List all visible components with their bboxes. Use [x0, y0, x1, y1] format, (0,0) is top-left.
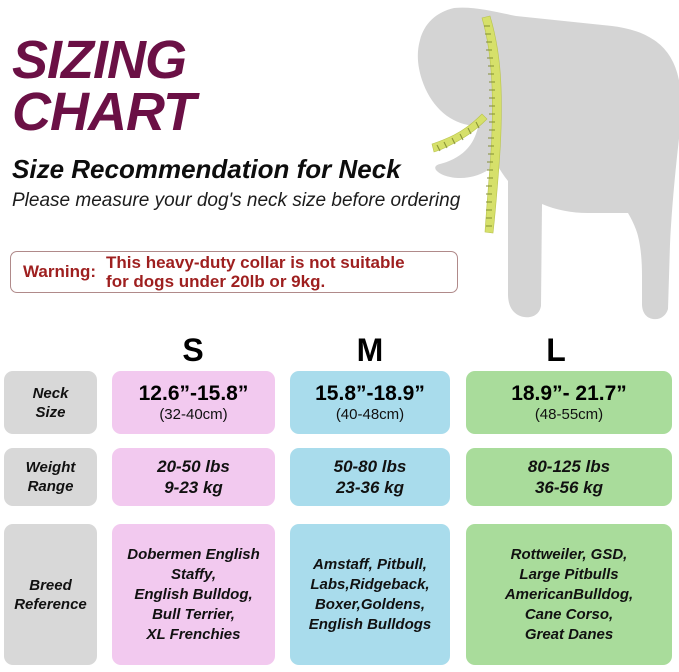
row-label-line-2: Reference — [14, 595, 87, 614]
warning-box: Warning: This heavy-duty collar is not s… — [10, 251, 458, 293]
weight-small-kg: 9-23 kg — [164, 477, 223, 498]
table-row-breed-reference: Breed Reference Dobermen English Staffy,… — [0, 516, 679, 672]
breed-small-line-3: English Bulldog, — [134, 585, 252, 605]
breed-large-line-1: Rottweiler, GSD, — [511, 545, 628, 565]
warning-message: This heavy-duty collar is not suitable f… — [106, 253, 405, 291]
size-header-large: L — [546, 333, 566, 367]
table-row-weight-range: Weight Range 20-50 lbs 9-23 kg 50-80 lbs… — [0, 438, 679, 516]
breed-medium-line-1: Amstaff, Pitbull, — [313, 555, 427, 575]
size-header-row: S M L — [0, 333, 679, 367]
cell-breed-reference-large: Rottweiler, GSD, Large Pitbulls American… — [466, 524, 672, 665]
cell-weight-range-large: 80-125 lbs 36-56 kg — [466, 448, 672, 506]
row-label-breed-reference: Breed Reference — [4, 524, 97, 665]
cell-weight-range-medium: 50-80 lbs 23-36 kg — [290, 448, 450, 506]
table-row-neck-size: Neck Size 12.6”-15.8” (32-40cm) 15.8”-18… — [0, 367, 679, 438]
size-header-medium: M — [357, 333, 384, 367]
warning-message-line-1: This heavy-duty collar is not suitable — [106, 253, 405, 272]
breed-large-line-5: Great Danes — [525, 625, 613, 645]
row-label-line-2: Range — [28, 477, 74, 496]
row-label-line-1: Breed — [29, 576, 72, 595]
neck-size-medium-inches: 15.8”-18.9” — [315, 382, 425, 406]
weight-medium-kg: 23-36 kg — [336, 477, 404, 498]
instruction-text: Please measure your dog's neck size befo… — [12, 189, 482, 213]
breed-small-line-2: Staffy, — [171, 565, 216, 585]
neck-size-large-cm: (48-55cm) — [535, 406, 603, 424]
breed-small-line-1: Dobermen English — [127, 545, 260, 565]
breed-medium-line-4: English Bulldogs — [309, 615, 432, 635]
row-label-line-1: Neck — [33, 384, 69, 403]
neck-size-small-cm: (32-40cm) — [159, 406, 227, 424]
cell-breed-reference-small: Dobermen English Staffy, English Bulldog… — [112, 524, 275, 665]
weight-small-lbs: 20-50 lbs — [157, 456, 230, 477]
subtitle: Size Recommendation for Neck — [12, 154, 482, 184]
cell-neck-size-large: 18.9”- 21.7” (48-55cm) — [466, 371, 672, 434]
size-header-small: S — [182, 333, 203, 367]
cell-weight-range-small: 20-50 lbs 9-23 kg — [112, 448, 275, 506]
cell-neck-size-small: 12.6”-15.8” (32-40cm) — [112, 371, 275, 434]
breed-medium-line-2: Labs,Ridgeback, — [310, 575, 429, 595]
breed-small-line-4: Bull Terrier, — [152, 605, 235, 625]
warning-label: Warning: — [17, 262, 106, 282]
breed-small-line-5: XL Frenchies — [147, 625, 241, 645]
neck-size-small-inches: 12.6”-15.8” — [139, 382, 249, 406]
row-label-line-1: Weight — [26, 458, 76, 477]
page-title-line-1: SIZING — [12, 34, 482, 86]
row-label-line-2: Size — [35, 403, 65, 422]
breed-large-line-4: Cane Corso, — [525, 605, 613, 625]
breed-medium-line-3: Boxer,Goldens, — [315, 595, 425, 615]
weight-large-lbs: 80-125 lbs — [528, 456, 610, 477]
heading-block: SIZING CHART Size Recommendation for Nec… — [12, 34, 482, 213]
breed-large-line-3: AmericanBulldog, — [505, 585, 633, 605]
weight-large-kg: 36-56 kg — [535, 477, 603, 498]
row-label-neck-size: Neck Size — [4, 371, 97, 434]
neck-size-medium-cm: (40-48cm) — [336, 406, 404, 424]
weight-medium-lbs: 50-80 lbs — [334, 456, 407, 477]
neck-size-large-inches: 18.9”- 21.7” — [511, 382, 627, 406]
page-title-line-2: CHART — [12, 86, 482, 138]
size-table: Neck Size 12.6”-15.8” (32-40cm) 15.8”-18… — [0, 367, 679, 672]
row-label-weight-range: Weight Range — [4, 448, 97, 506]
breed-large-line-2: Large Pitbulls — [519, 565, 618, 585]
cell-neck-size-medium: 15.8”-18.9” (40-48cm) — [290, 371, 450, 434]
warning-message-line-2: for dogs under 20lb or 9kg. — [106, 272, 405, 291]
cell-breed-reference-medium: Amstaff, Pitbull, Labs,Ridgeback, Boxer,… — [290, 524, 450, 665]
